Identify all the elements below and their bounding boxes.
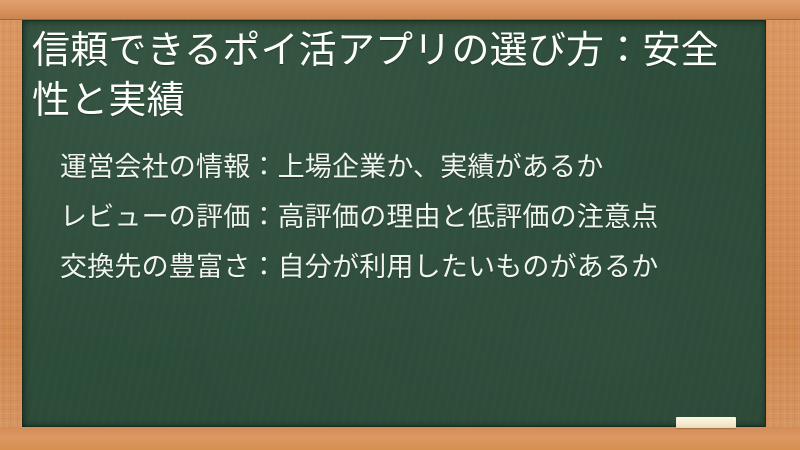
list-item: 交換先の豊富さ：自分が利用したいものがあるか bbox=[60, 242, 754, 292]
page-title: 信頼できるポイ活アプリの選び方：安全性と実績 bbox=[32, 26, 738, 126]
list-item: 運営会社の情報：上場企業か、実績があるか bbox=[60, 142, 754, 192]
chalk-stick bbox=[676, 417, 736, 428]
chalkboard-content: 信頼できるポイ活アプリの選び方：安全性と実績 運営会社の情報：上場企業か、実績が… bbox=[22, 20, 766, 427]
frame-bottom-ledge bbox=[0, 427, 800, 450]
bullet-list: 運営会社の情報：上場企業か、実績があるか レビューの評価：高評価の理由と低評価の… bbox=[32, 142, 754, 292]
frame-top-rail bbox=[0, 0, 800, 20]
list-item: レビューの評価：高評価の理由と低評価の注意点 bbox=[60, 192, 754, 242]
blackboard-slide: 信頼できるポイ活アプリの選び方：安全性と実績 運営会社の情報：上場企業か、実績が… bbox=[0, 0, 800, 450]
chalkboard-surface: 信頼できるポイ活アプリの選び方：安全性と実績 運営会社の情報：上場企業か、実績が… bbox=[22, 20, 766, 427]
